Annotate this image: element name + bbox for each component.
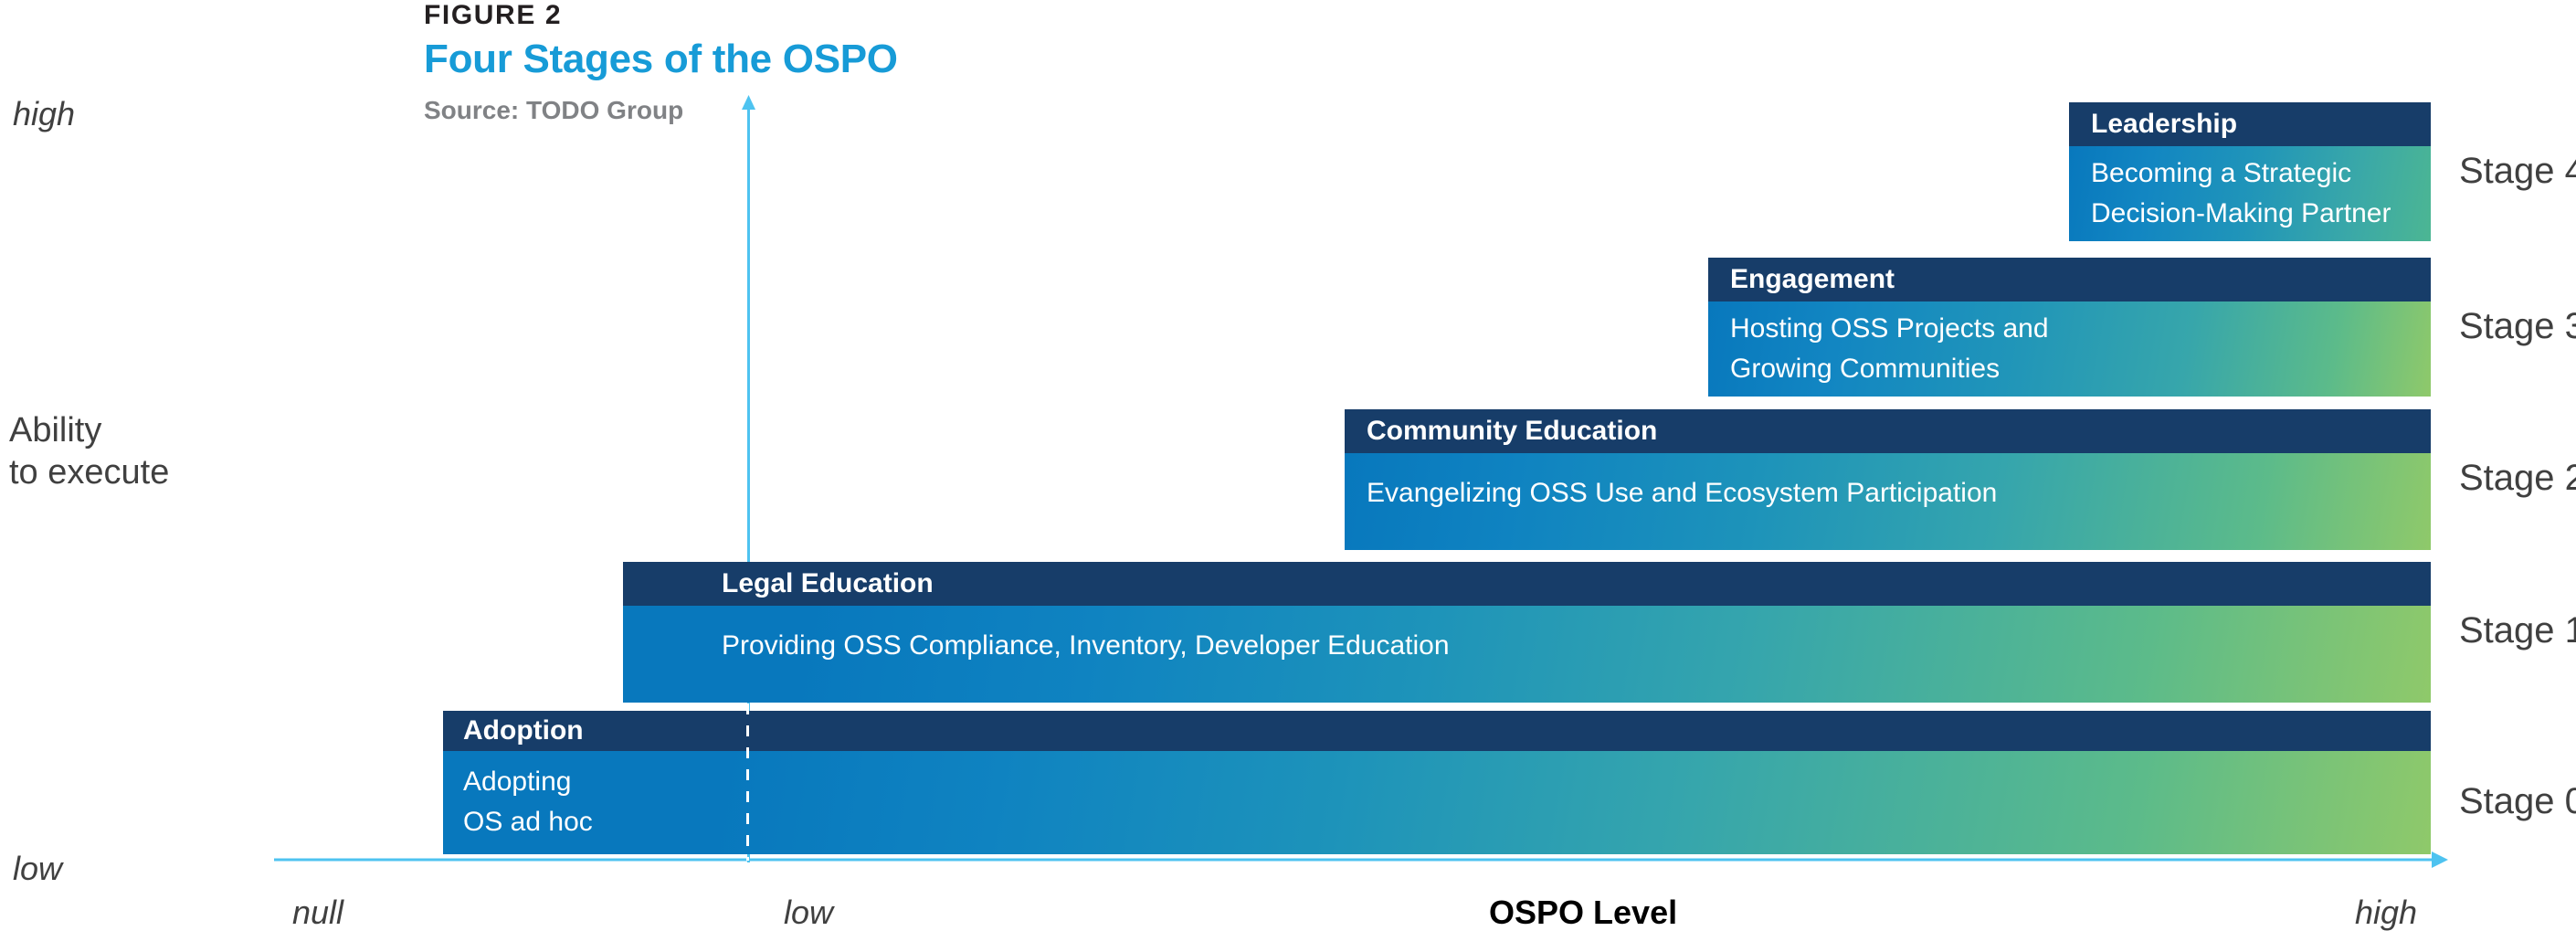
stage-4-description: Becoming a Strategic Decision-Making Par… <box>2091 153 2431 234</box>
stage-label-0: Stage 0 <box>2459 781 2576 822</box>
stage-bar-1[interactable]: Legal Education Providing OSS Compliance… <box>623 562 2431 703</box>
stage-label-1: Stage 1 <box>2459 610 2576 651</box>
stage-1-heading: Legal Education <box>623 568 934 599</box>
stage-label-3: Stage 3 <box>2459 306 2576 347</box>
stage-3-heading-band: Engagement <box>1708 258 2431 301</box>
stage-bar-2[interactable]: Community Education Evangelizing OSS Use… <box>1345 409 2431 550</box>
stage-2-heading: Community Education <box>1345 416 1657 447</box>
x-axis-label-null: null <box>292 894 343 932</box>
stage-2-description: Evangelizing OSS Use and Ecosystem Parti… <box>1367 473 2431 513</box>
y-axis-title: Ability to execute <box>9 409 169 493</box>
stage-bar-0[interactable]: Adoption Adopting OS ad hoc <box>443 711 2431 854</box>
stage-4-heading: Leadership <box>2069 109 2237 140</box>
stage-0-heading-band: Adoption <box>443 711 2431 751</box>
figure-number: FIGURE 2 <box>424 0 562 31</box>
x-axis-title: OSPO Level <box>1489 894 1677 932</box>
stage-bar-3[interactable]: Engagement Hosting OSS Projects and Grow… <box>1708 258 2431 397</box>
stage-bar-4[interactable]: Leadership Becoming a Strategic Decision… <box>2069 102 2431 241</box>
stage-4-heading-band: Leadership <box>2069 102 2431 146</box>
stage-4-body: Becoming a Strategic Decision-Making Par… <box>2069 146 2431 241</box>
figure-title: Four Stages of the OSPO <box>424 37 898 82</box>
stage-0-body: Adopting OS ad hoc <box>443 751 2431 854</box>
stage-label-4: Stage 4 <box>2459 151 2576 192</box>
x-axis-label-high: high <box>2355 894 2417 932</box>
figure-source: Source: TODO Group <box>424 96 683 125</box>
stage-1-heading-band: Legal Education <box>623 562 2431 606</box>
stage-2-heading-band: Community Education <box>1345 409 2431 453</box>
stage-0-description: Adopting OS ad hoc <box>463 762 2431 842</box>
stage-3-description: Hosting OSS Projects and Growing Communi… <box>1730 309 2431 389</box>
stage-label-2: Stage 2 <box>2459 458 2576 499</box>
x-axis-label-low: low <box>784 894 833 932</box>
stage-0-heading: Adoption <box>443 715 584 746</box>
stage-2-body: Evangelizing OSS Use and Ecosystem Parti… <box>1345 453 2431 550</box>
stage-3-body: Hosting OSS Projects and Growing Communi… <box>1708 301 2431 397</box>
figure-canvas: FIGURE 2 Four Stages of the OSPO Source:… <box>0 0 2576 952</box>
y-axis-label-low: low <box>13 850 62 888</box>
stage-1-description: Providing OSS Compliance, Inventory, Dev… <box>722 626 2431 666</box>
stage-3-heading: Engagement <box>1708 264 1895 295</box>
y-axis-label-high: high <box>13 95 75 133</box>
stage-1-body: Providing OSS Compliance, Inventory, Dev… <box>623 606 2431 703</box>
